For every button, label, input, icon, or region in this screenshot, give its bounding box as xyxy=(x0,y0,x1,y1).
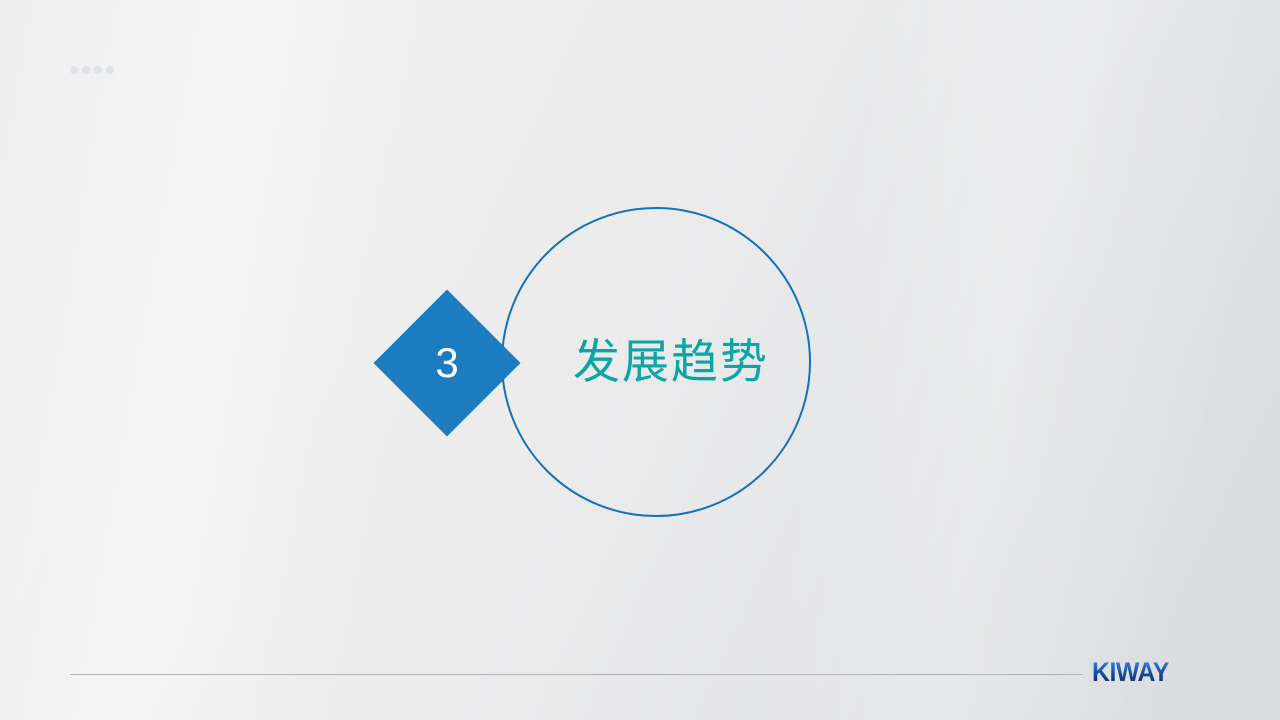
dot-icon-1 xyxy=(70,66,78,74)
decorative-dots xyxy=(70,66,114,74)
dot-icon-4 xyxy=(106,66,114,74)
dot-icon-2 xyxy=(82,66,90,74)
section-divider-graphic: 3 发展趋势 xyxy=(0,0,1280,720)
section-title: 发展趋势 xyxy=(502,330,810,394)
section-number: 3 xyxy=(395,311,499,415)
dot-icon-3 xyxy=(94,66,102,74)
kiway-logo: KIWAY xyxy=(1092,659,1169,686)
slide-canvas: 3 发展趋势 KIWAY xyxy=(0,0,1280,720)
footer-divider xyxy=(70,674,1083,675)
